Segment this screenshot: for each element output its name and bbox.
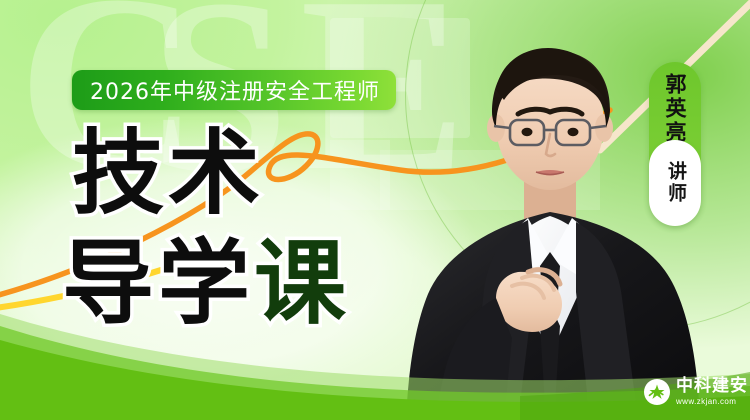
course-poster: C S E: [0, 0, 750, 420]
poster-title-line-2: 导学课: [62, 238, 350, 330]
star-peak-icon: [644, 379, 670, 405]
brand-text: 中科建安 www.zkjan.com: [676, 378, 748, 406]
instructor-role-badge: 讲师: [649, 140, 701, 226]
brand-name: 中科建安: [676, 378, 748, 395]
poster-title-line-2-dark: 课: [254, 230, 350, 337]
poster-title-line-2-light: 导学: [62, 230, 254, 337]
brand-logo: 中科建安 www.zkjan.com: [644, 378, 748, 406]
poster-title-line-1: 技术: [72, 128, 264, 220]
instructor-role: 讲师: [665, 161, 685, 205]
instructor-name: 郭英亮: [664, 73, 686, 145]
course-category-badge: 2026年中级注册安全工程师: [72, 70, 396, 110]
brand-url: www.zkjan.com: [676, 398, 748, 406]
course-category-label: 2026年中级注册安全工程师: [90, 74, 380, 106]
